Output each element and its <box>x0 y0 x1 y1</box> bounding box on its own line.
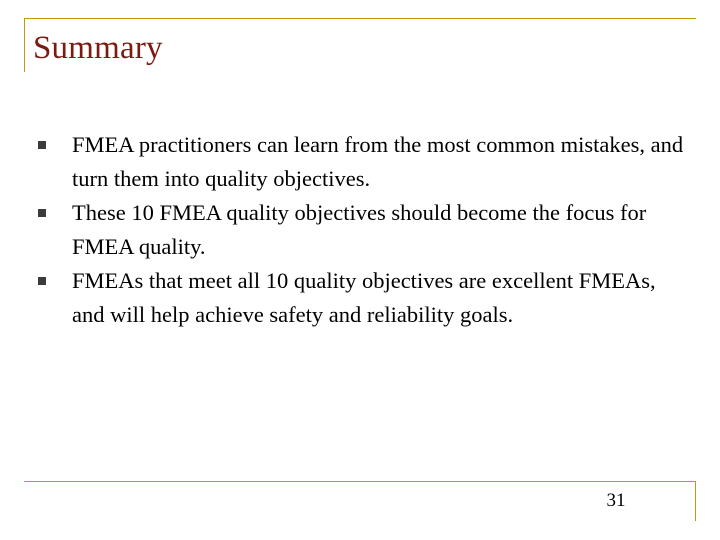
top-divider <box>24 18 696 19</box>
page-number: 31 <box>596 489 636 513</box>
left-accent-line <box>24 18 25 72</box>
bullet-list: FMEA practitioners can learn from the mo… <box>38 128 688 332</box>
square-bullet-icon <box>38 277 46 285</box>
list-item-text: These 10 FMEA quality objectives should … <box>72 196 688 264</box>
list-item: These 10 FMEA quality objectives should … <box>38 196 688 264</box>
bottom-divider <box>24 481 696 482</box>
list-item-text: FMEA practitioners can learn from the mo… <box>72 128 688 196</box>
square-bullet-icon <box>38 141 46 149</box>
list-item: FMEA practitioners can learn from the mo… <box>38 128 688 196</box>
slide: Summary FMEA practitioners can learn fro… <box>0 0 720 540</box>
list-item-text: FMEAs that meet all 10 quality objective… <box>72 264 688 332</box>
right-accent-line <box>695 481 696 521</box>
list-item: FMEAs that meet all 10 quality objective… <box>38 264 688 332</box>
page-title: Summary <box>33 28 163 68</box>
square-bullet-icon <box>38 209 46 217</box>
